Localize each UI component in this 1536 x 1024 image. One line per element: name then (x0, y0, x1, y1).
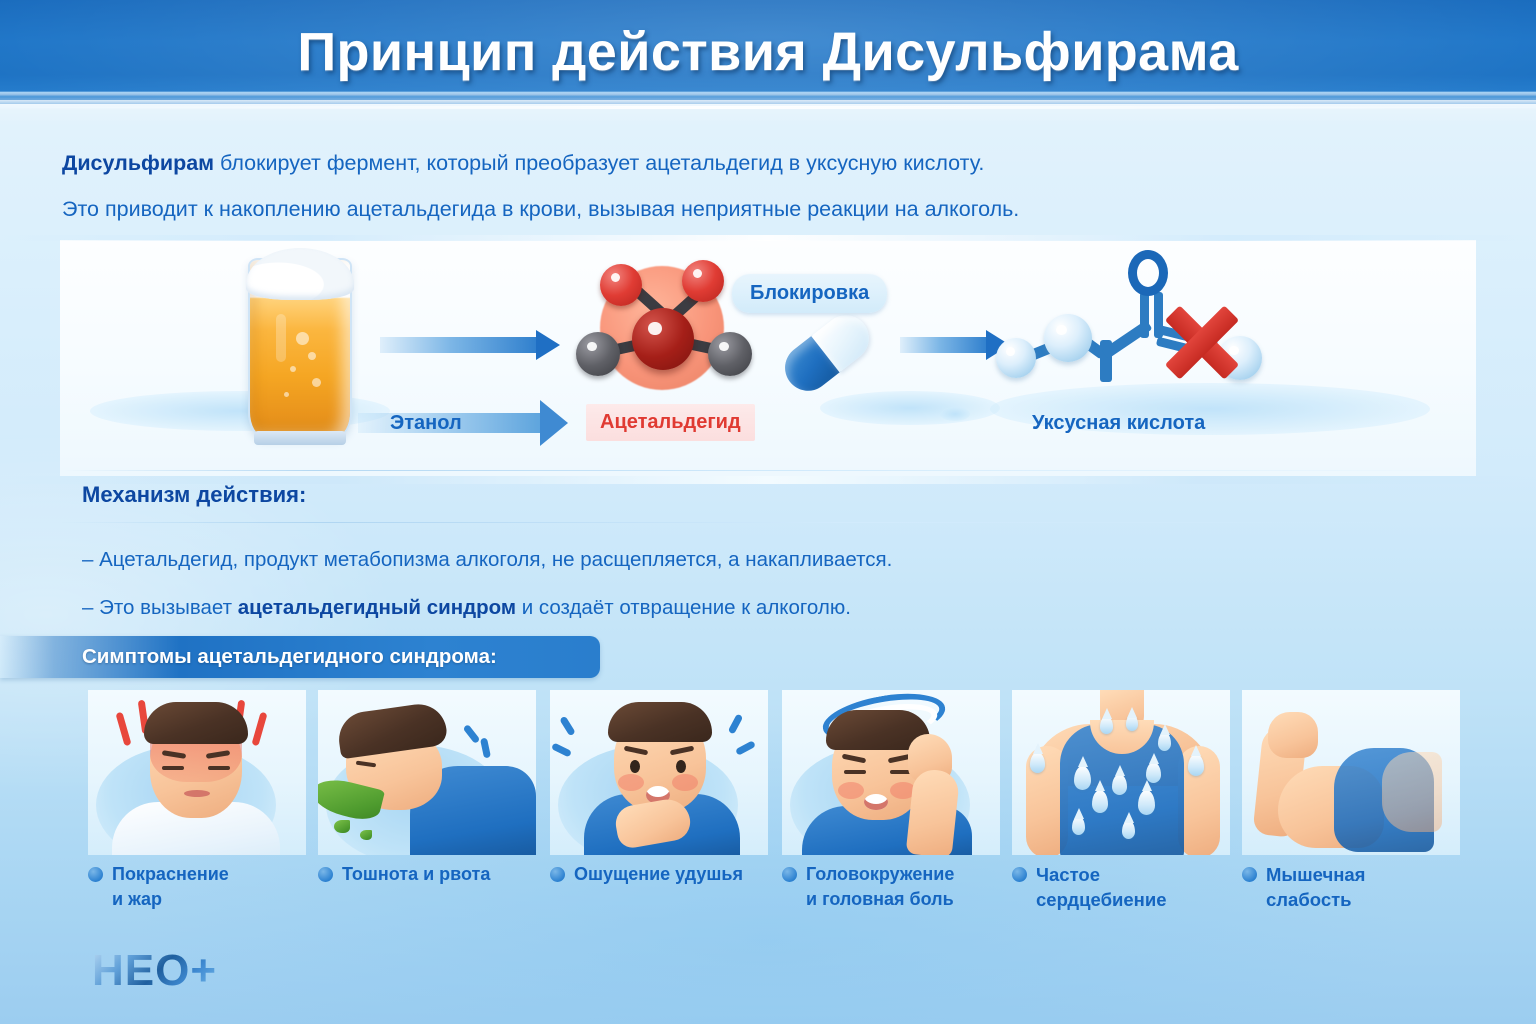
carbon-atom (708, 332, 752, 376)
bullet-dot-icon (1012, 867, 1027, 882)
symptom-label-line2: слабость (1266, 889, 1352, 910)
label-blockage: Блокировка (732, 274, 887, 313)
carbon-atom (576, 332, 620, 376)
atom-sphere (996, 338, 1036, 378)
dash: – (82, 548, 93, 571)
sweat-drop-icon (1122, 820, 1135, 839)
hair (144, 702, 248, 744)
intro-line-1-rest: блокирует фермент, который преобразует а… (214, 151, 984, 175)
symptom-label-line2: и головная боль (806, 889, 954, 909)
sweat-drop-icon (1092, 790, 1108, 813)
mechanism-item: – Это вызывает ацетальдегидный синдром и… (82, 584, 1422, 632)
dash: – (82, 596, 93, 619)
bullet-dot-icon (1242, 867, 1257, 882)
sweat-drop-icon (1074, 766, 1091, 790)
shoulder (1382, 752, 1442, 832)
infographic-page: Принцип действия Дисульфирама Дисульфира… (0, 0, 1536, 1024)
symptom-label: Частое сердцебиение (1036, 862, 1167, 912)
open-mouth (864, 794, 888, 810)
symptom-caption: Покраснение и жар (88, 862, 316, 912)
intro-drug-name: Дисульфирам (62, 151, 214, 175)
oxygen-ring (1128, 250, 1168, 296)
symptom-label: Тошнота и рвота (342, 862, 490, 887)
arrow-right-icon (380, 330, 560, 360)
sweat-drop-icon (1072, 816, 1085, 835)
symptom-label-line1: Частое (1036, 864, 1100, 885)
symptom-card-vomiting: Тошнота и рвота (318, 690, 536, 940)
symptom-card-dizzy: Головокружение и головная боль (782, 690, 1000, 940)
arm (906, 768, 961, 855)
symptom-label-line1: Головокружение (806, 864, 954, 884)
symptom-caption: Ошущение удушья (550, 862, 778, 887)
bubble (312, 378, 321, 387)
bullet-dot-icon (782, 867, 797, 882)
mechanism-item-bold: ацетальдегидный синдром (238, 596, 516, 619)
symptom-label-line2: и жар (112, 889, 162, 909)
sweat-drop-icon (1188, 754, 1204, 776)
red-x-icon (1158, 298, 1246, 386)
divider (60, 522, 1476, 523)
sweat-drop-icon (1138, 790, 1155, 815)
closed-eye (844, 770, 866, 774)
intro-line-1: Дисульфирам блокирует фермент, который п… (62, 140, 1392, 186)
page-title: Принцип действия Дисульфирама (0, 0, 1536, 104)
mechanism-item-post: и создаёт отвращение к алкоголю. (516, 596, 851, 619)
bullet-dot-icon (550, 867, 565, 882)
oxygen-atom (600, 264, 642, 306)
atom-sphere (1044, 314, 1092, 362)
puddle-decoration (940, 407, 970, 421)
label-acetic-acid: Уксусная кислота (1032, 412, 1205, 435)
mechanism-item: – Ацетальдегид, продукт метабопизма алко… (82, 536, 1422, 584)
oxygen-atom (682, 260, 724, 302)
fist (1268, 712, 1318, 758)
hair (608, 702, 712, 742)
dizzy-man-illustration (782, 690, 1000, 855)
sweat-drop-icon (1126, 714, 1138, 731)
eye (676, 760, 686, 773)
mechanism-list: – Ацетальдегид, продукт метабопизма алко… (82, 536, 1422, 632)
symptom-card-weakness: Мышечная слабость (1242, 690, 1460, 940)
vomiting-man-illustration (318, 690, 536, 855)
symptom-card-choking: Ошущение удушья (550, 690, 768, 940)
mechanism-item-text: Ацетальдегид, продукт метабопизма алкого… (99, 548, 892, 571)
symptom-caption: Тошнота и рвота (318, 862, 546, 887)
vomit-drop (360, 830, 372, 840)
title-banner: Принцип действия Дисульфирама (0, 0, 1536, 104)
bubble (308, 352, 316, 360)
symptom-label-line1: Мышечная (1266, 864, 1365, 885)
bubble (296, 332, 309, 345)
bullet-dot-icon (88, 867, 103, 882)
symptom-card-palpitations: Частое сердцебиение (1012, 690, 1230, 940)
sweat-drop-icon (1030, 752, 1045, 773)
choking-man-illustration (550, 690, 768, 855)
bubble (290, 366, 296, 372)
flexed-arm-illustration (1242, 690, 1460, 855)
vomit-drop (334, 820, 350, 833)
puddle-decoration (820, 391, 1000, 425)
sweat-drop-icon (1112, 774, 1127, 795)
bubble (284, 392, 289, 397)
skeletal-molecule-icon (990, 252, 1270, 392)
sweat-drop-icon (1100, 716, 1113, 734)
symptom-label-line2: сердцебиение (1036, 889, 1167, 910)
symptom-label: Покраснение и жар (112, 862, 229, 912)
intro-line-2: Это приводит к накоплению ацетальдегида … (62, 186, 1392, 232)
molecule-icon (570, 258, 760, 393)
symptom-caption: Мышечная слабость (1242, 862, 1470, 912)
symptom-label-line1: Покраснение (112, 864, 229, 884)
beer-glass-icon (248, 258, 352, 438)
glass-base (254, 431, 346, 445)
symptoms-row: Покраснение и жар Тошнота и рв (60, 690, 1480, 940)
brand-logo: НЕО+ (92, 946, 217, 996)
symptoms-banner: Симптомы ацетальдегидного синдрома: (0, 636, 600, 678)
eye (630, 760, 640, 773)
symptoms-banner-label: Симптомы ацетальдегидного синдрома: (82, 636, 497, 678)
central-atom (632, 308, 694, 370)
banner-wave-divider (0, 100, 1536, 126)
mechanism-heading: Механизм действия: (82, 482, 306, 508)
symptom-label: Мышечная слабость (1266, 862, 1365, 912)
label-acetaldehyde: Ацетальдегид (586, 404, 755, 441)
symptom-caption: Частое сердцебиение (1012, 862, 1240, 912)
symptom-label: Головокружение и головная боль (806, 862, 954, 912)
label-ethanol: Этанол (390, 412, 462, 435)
cheek-blush (618, 774, 644, 791)
closed-eye (208, 766, 230, 770)
bullet-dot-icon (318, 867, 333, 882)
symptom-card-flushed: Покраснение и жар (88, 690, 306, 940)
symptom-caption: Головокружение и головная боль (782, 862, 1010, 912)
mechanism-item-pre: Это вызывает (99, 596, 238, 619)
sweat-drop-icon (1158, 732, 1171, 751)
intro-text: Дисульфирам блокирует фермент, который п… (62, 140, 1392, 232)
cheek-blush (838, 782, 864, 799)
double-bond (1140, 292, 1149, 338)
symptom-label: Ошущение удушья (574, 862, 743, 887)
mouth (184, 790, 210, 797)
cheek-blush (672, 774, 698, 791)
bubble (276, 314, 286, 362)
closed-eye (162, 766, 184, 770)
flushed-face-illustration (88, 690, 306, 855)
sweating-torso-illustration (1012, 690, 1230, 855)
divider (60, 470, 1476, 471)
